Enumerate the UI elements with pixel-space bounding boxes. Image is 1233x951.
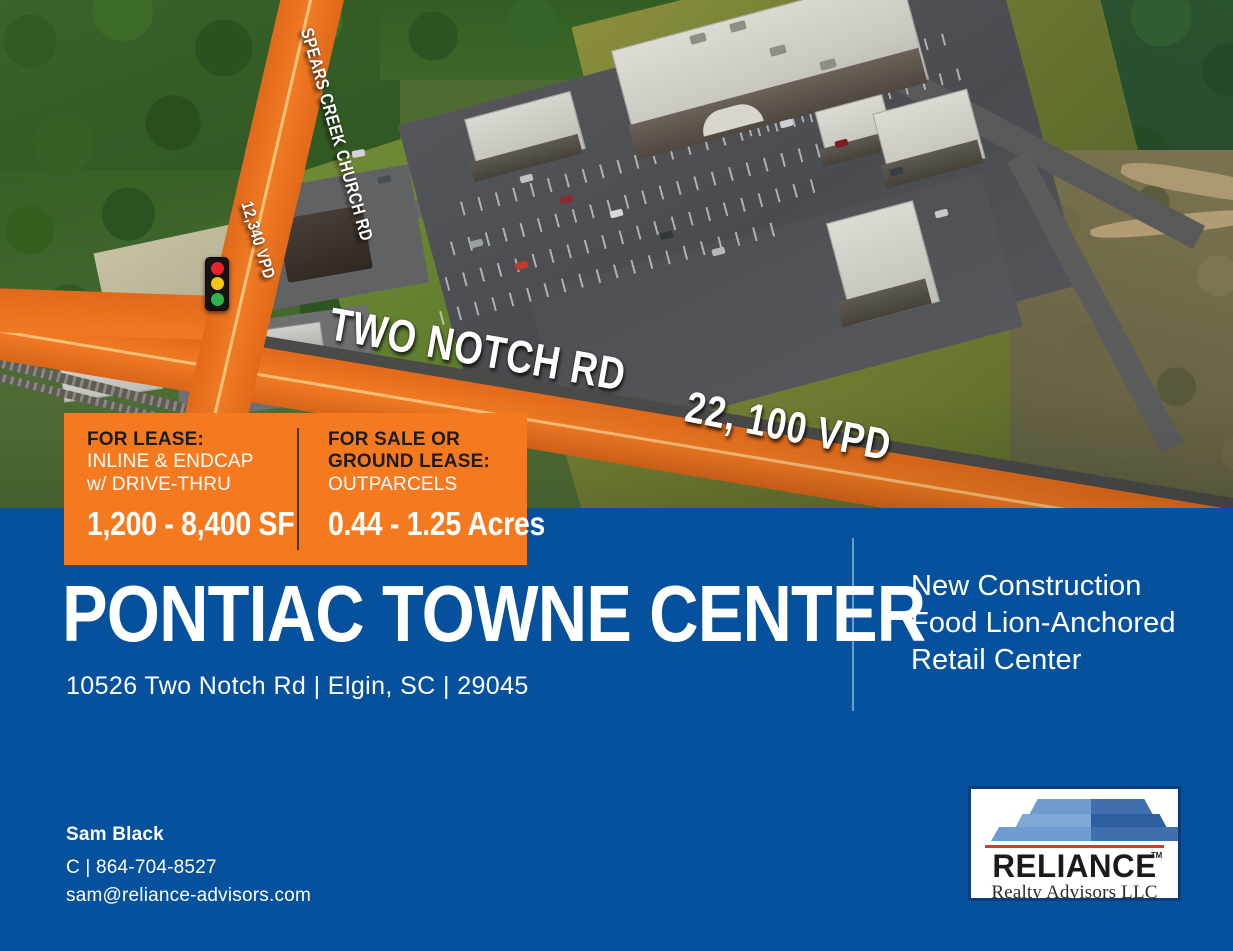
- spec-column-for-sale: FOR SALE OR GROUND LEASE: OUTPARCELS 0.4…: [298, 413, 527, 565]
- contact-phone[interactable]: C | 864-704-8527: [66, 854, 311, 882]
- for-sale-heading-line2: GROUND LEASE:: [328, 451, 527, 473]
- for-lease-subheading-line2: w/ DRIVE-THRU: [87, 474, 298, 496]
- tagline-line-2: Food Lion-Anchored: [911, 605, 1176, 642]
- logo-trademark: TM: [1151, 852, 1162, 860]
- contact-email[interactable]: sam@reliance-advisors.com: [66, 882, 311, 910]
- building-roof-left: [1029, 799, 1091, 815]
- building-base-right: [1091, 827, 1181, 841]
- page-title: PONTIAC TOWNE CENTER: [62, 575, 925, 653]
- for-sale-subheading: OUTPARCELS: [328, 474, 527, 496]
- logo-inner: RELIANCE TM Realty Advisors LLC: [971, 789, 1178, 898]
- for-lease-heading: FOR LEASE:: [87, 429, 298, 451]
- logo-subtitle: Realty Advisors LLC: [979, 883, 1170, 901]
- property-tagline: New Construction Food Lion-Anchored Reta…: [911, 568, 1176, 679]
- tagline-line-3: Retail Center: [911, 642, 1176, 679]
- building-mid-right: [1091, 814, 1167, 828]
- building-base-left: [991, 827, 1091, 841]
- listing-specs-box: FOR LEASE: INLINE & ENDCAP w/ DRIVE-THRU…: [64, 413, 527, 565]
- tagline-divider: [852, 538, 854, 711]
- contact-name: Sam Black: [66, 824, 311, 846]
- property-address: 10526 Two Notch Rd | Elgin, SC | 29045: [66, 672, 529, 701]
- building-mid-left: [1015, 814, 1091, 828]
- flyer-page: TWO NOTCH RD 22, 100 VPD SPEARS CREEK CH…: [0, 0, 1233, 951]
- building-icon: [985, 797, 1164, 842]
- for-lease-subheading-line1: INLINE & ENDCAP: [87, 451, 298, 473]
- contact-block: Sam Black C | 864-704-8527 sam@reliance-…: [66, 824, 311, 909]
- traffic-light-green: [211, 293, 224, 306]
- for-sale-heading-line1: FOR SALE OR: [328, 429, 527, 451]
- for-lease-size-value: 1,200 - 8,400 SF: [87, 505, 268, 543]
- traffic-light-icon: [205, 257, 229, 311]
- traffic-light-yellow: [211, 277, 224, 290]
- for-sale-acreage-value: 0.44 - 1.25 Acres: [328, 505, 499, 543]
- building-roof-right: [1091, 799, 1153, 815]
- traffic-light-red: [211, 262, 224, 275]
- tagline-line-1: New Construction: [911, 568, 1176, 605]
- logo-wordmark-text: RELIANCE: [992, 848, 1156, 884]
- spec-column-for-lease: FOR LEASE: INLINE & ENDCAP w/ DRIVE-THRU…: [64, 413, 298, 565]
- company-logo[interactable]: RELIANCE TM Realty Advisors LLC: [968, 786, 1181, 901]
- logo-wordmark: RELIANCE TM: [981, 850, 1168, 882]
